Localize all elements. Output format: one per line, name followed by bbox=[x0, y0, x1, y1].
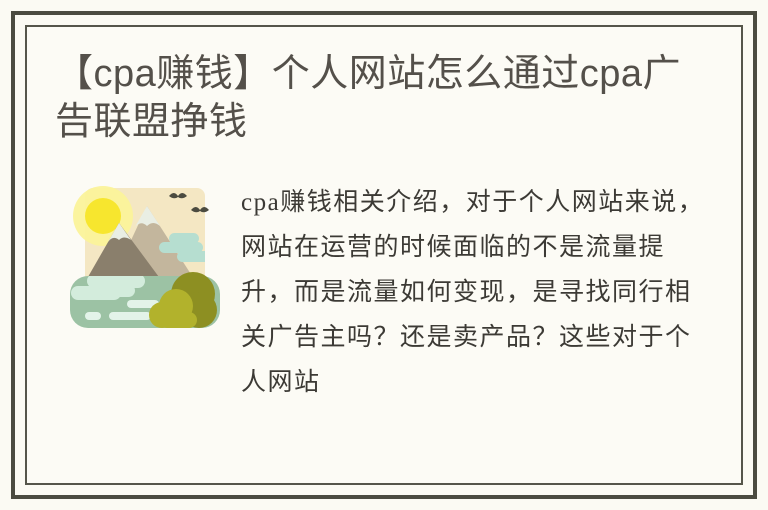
sun-shape bbox=[85, 198, 121, 234]
article-body-text: cpa赚钱相关介绍，对于个人网站来说，网站在运营的时候面临的不是流量提升，而是流… bbox=[241, 178, 715, 405]
bush-light-shape bbox=[159, 312, 197, 328]
article-frame-outer: 【cpa赚钱】个人网站怎么通过cpa广告联盟挣钱 bbox=[11, 11, 757, 499]
page-root: 【cpa赚钱】个人网站怎么通过cpa广告联盟挣钱 bbox=[0, 0, 768, 510]
page-title: 【cpa赚钱】个人网站怎么通过cpa广告联盟挣钱 bbox=[53, 51, 715, 146]
article-content-row: cpa赚钱相关介绍，对于个人网站来说，网站在运营的时候面临的不是流量提升，而是流… bbox=[53, 178, 715, 405]
landscape-placeholder-icon bbox=[65, 178, 225, 338]
article-thumbnail[interactable] bbox=[65, 178, 225, 338]
article-card-body: 【cpa赚钱】个人网站怎么通过cpa广告联盟挣钱 bbox=[27, 27, 741, 483]
article-frame-inner: 【cpa赚钱】个人网站怎么通过cpa广告联盟挣钱 bbox=[25, 25, 743, 485]
